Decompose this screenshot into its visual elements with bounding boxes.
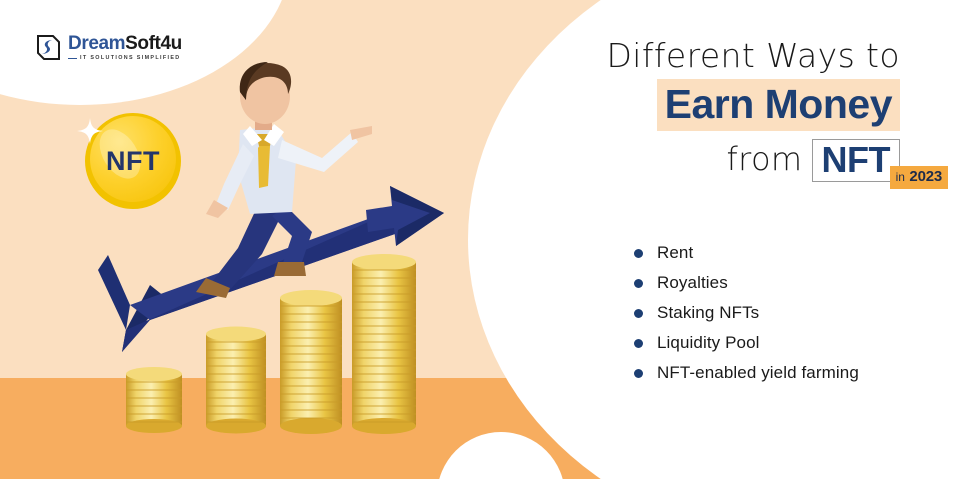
- headline-line-3-row: from NFT in 2023: [600, 139, 900, 182]
- headline-line-2: Earn Money: [657, 79, 900, 131]
- headline-line-2-row: Earn Money: [600, 79, 900, 131]
- list-item: Rent: [634, 238, 859, 268]
- bullet-dot-icon: [634, 339, 643, 348]
- nft-coin: NFT: [85, 113, 181, 209]
- list-item: Staking NFTs: [634, 298, 859, 328]
- gold-coin-stacks-icon: [126, 254, 416, 434]
- list-item: NFT-enabled yield farming: [634, 358, 859, 388]
- list-item-label: Rent: [657, 243, 693, 263]
- list-item-label: Staking NFTs: [657, 303, 759, 323]
- headline-line-1: Different Ways to: [600, 36, 900, 76]
- list-item: Liquidity Pool: [634, 328, 859, 358]
- year-badge-prefix: in: [896, 170, 905, 184]
- list-item-label: Royalties: [657, 273, 728, 293]
- list-item-label: Liquidity Pool: [657, 333, 760, 353]
- year-badge-value: 2023: [909, 168, 942, 185]
- brand-tagline: IT SOLUTIONS SIMPLIFIED: [80, 56, 181, 61]
- benefits-list: Rent Royalties Staking NFTs Liquidity Po…: [634, 238, 859, 388]
- list-item: Royalties: [634, 268, 859, 298]
- businessman-pointing-icon: [196, 62, 372, 298]
- bullet-dot-icon: [634, 249, 643, 258]
- illustration-artwork: [0, 0, 640, 479]
- headline-nft-keyword: NFT: [822, 139, 890, 180]
- bullet-dot-icon: [634, 279, 643, 288]
- brand-tagline-row: IT SOLUTIONS SIMPLIFIED: [68, 56, 182, 61]
- tagline-dash: [68, 58, 77, 59]
- headline-from-word: from: [726, 140, 802, 182]
- bullet-dot-icon: [634, 369, 643, 378]
- headline-nft-box: NFT in 2023: [812, 139, 900, 182]
- brand-name-part2: Soft4u: [125, 33, 182, 54]
- brand-logo-text: DreamSoft4u IT SOLUTIONS SIMPLIFIED: [68, 34, 182, 61]
- brand-name-part1: Dream: [68, 33, 125, 54]
- bullet-dot-icon: [634, 309, 643, 318]
- brand-name: DreamSoft4u: [68, 34, 182, 53]
- list-item-label: NFT-enabled yield farming: [657, 363, 859, 383]
- brand-logo[interactable]: DreamSoft4u IT SOLUTIONS SIMPLIFIED: [36, 34, 182, 61]
- sparkle-icon: [77, 118, 103, 144]
- nft-infographic-banner: NFT DreamSoft4u IT SOLUTIONS SIMPLIFIED …: [0, 0, 957, 479]
- year-badge: in 2023: [890, 166, 948, 189]
- dreamsoft4u-logo-icon: [36, 35, 61, 60]
- headline-block: Different Ways to Earn Money from NFT in…: [600, 36, 900, 182]
